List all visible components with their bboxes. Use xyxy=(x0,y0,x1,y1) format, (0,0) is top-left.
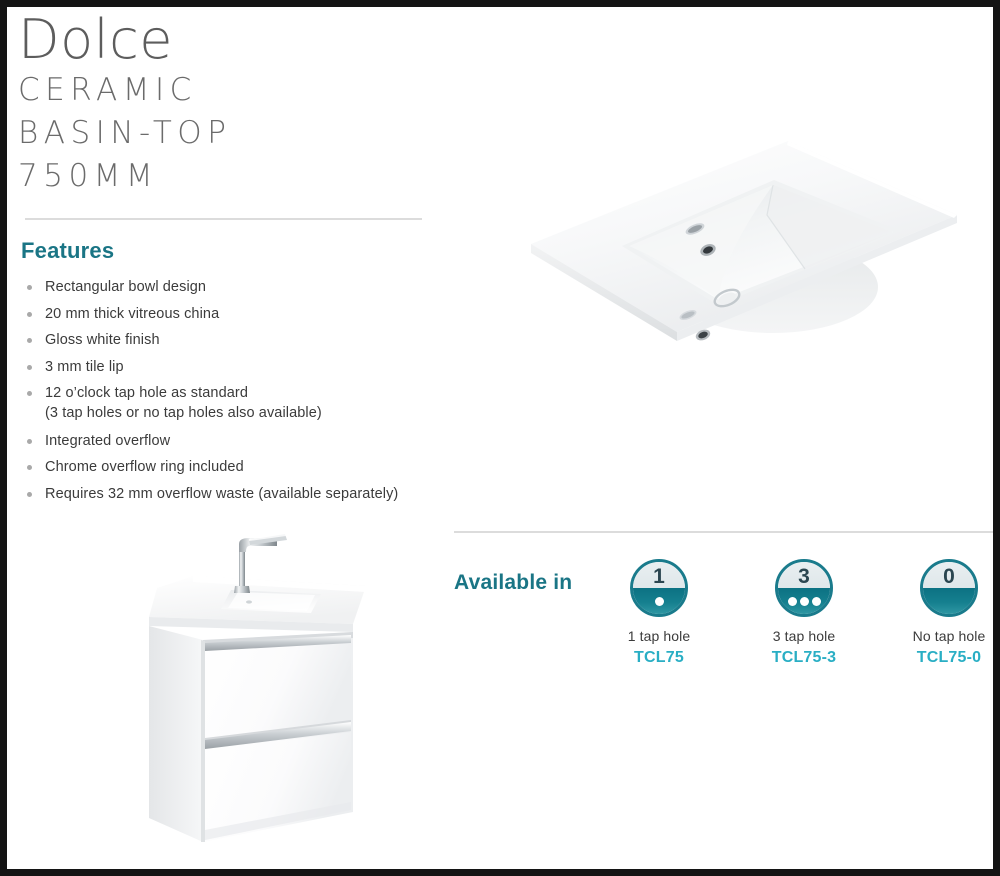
feature-item: Requires 32 mm overflow waste (available… xyxy=(21,485,441,504)
badge-bottom-half xyxy=(778,588,830,614)
bullet-icon xyxy=(27,365,32,370)
feature-item: Rectangular bowl design xyxy=(21,278,441,297)
title-block: Dolce CERAMIC BASIN-TOP 750MM xyxy=(18,11,438,198)
feature-item: 3 mm tile lip xyxy=(21,358,441,377)
feature-item: Chrome overflow ring included xyxy=(21,458,441,477)
feature-text: Rectangular bowl design xyxy=(45,279,206,295)
available-divider xyxy=(454,531,993,533)
tap-hole-badge-1: 1 xyxy=(630,559,688,617)
feature-text: Chrome overflow ring included xyxy=(45,459,244,475)
bullet-icon xyxy=(27,492,32,497)
option-product-code: TCL75 xyxy=(594,649,724,667)
tap-hole-dot-icon xyxy=(800,597,809,606)
option-product-code: TCL75-3 xyxy=(739,649,869,667)
tap-hole-option[interactable]: 3 3 tap hole TCL75-3 xyxy=(739,559,869,667)
bullet-icon xyxy=(27,439,32,444)
feature-text: 20 mm thick vitreous china xyxy=(45,306,219,322)
badge-bottom-half xyxy=(923,588,975,614)
tap-hole-badge-0: 0 xyxy=(920,559,978,617)
badge-top-half: 1 xyxy=(633,562,685,588)
basin-product-image xyxy=(505,119,965,374)
feature-text: 12 o’clock tap hole as standard xyxy=(45,385,248,401)
page-title: Dolce xyxy=(18,11,438,69)
bullet-icon xyxy=(27,465,32,470)
features-section: Features Rectangular bowl design 20 mm t… xyxy=(21,238,441,511)
subtitle-line-3: 750MM xyxy=(18,155,438,198)
tap-hole-badge-3: 3 xyxy=(775,559,833,617)
badge-top-half: 0 xyxy=(923,562,975,588)
subtitle-line-1: CERAMIC xyxy=(18,69,438,112)
tap-hole-option[interactable]: 0 No tap hole TCL75-0 xyxy=(884,559,993,667)
badge-number: 0 xyxy=(943,563,955,587)
features-heading: Features xyxy=(21,238,441,264)
product-spec-sheet: Dolce CERAMIC BASIN-TOP 750MM Features R… xyxy=(0,0,1000,876)
badge-bottom-half xyxy=(633,588,685,614)
feature-item: Gloss white finish xyxy=(21,331,441,350)
option-label: 1 tap hole xyxy=(594,628,724,644)
tap-hole-option[interactable]: 1 1 tap hole TCL75 xyxy=(594,559,724,667)
option-label: No tap hole xyxy=(884,628,993,644)
feature-subtext: (3 tap holes or no tap holes also availa… xyxy=(45,403,441,424)
option-label: 3 tap hole xyxy=(739,628,869,644)
feature-text: Integrated overflow xyxy=(45,433,170,449)
feature-item: 20 mm thick vitreous china xyxy=(21,305,441,324)
tap-hole-dot-icon xyxy=(788,597,797,606)
bullet-icon xyxy=(27,338,32,343)
badge-number: 1 xyxy=(653,563,665,587)
bullet-icon xyxy=(27,391,32,396)
badge-top-half: 3 xyxy=(778,562,830,588)
tap-hole-dot-icon xyxy=(655,597,664,606)
option-product-code: TCL75-0 xyxy=(884,649,993,667)
feature-item: 12 o’clock tap hole as standard (3 tap h… xyxy=(21,384,441,424)
vanity-product-image xyxy=(53,512,403,867)
available-in-section: Available in 1 1 tap hole TCL75 3 xyxy=(454,559,993,689)
subtitle-line-2: BASIN-TOP xyxy=(18,112,438,155)
feature-text: Requires 32 mm overflow waste (available… xyxy=(45,486,398,502)
bullet-icon xyxy=(27,285,32,290)
feature-item: Integrated overflow xyxy=(21,432,441,451)
tap-hole-dot-icon xyxy=(812,597,821,606)
available-in-heading: Available in xyxy=(454,571,572,595)
title-divider xyxy=(25,218,422,220)
bullet-icon xyxy=(27,312,32,317)
feature-text: Gloss white finish xyxy=(45,332,160,348)
page-content: Dolce CERAMIC BASIN-TOP 750MM Features R… xyxy=(7,7,993,869)
badge-number: 3 xyxy=(798,563,810,587)
feature-text: 3 mm tile lip xyxy=(45,359,124,375)
